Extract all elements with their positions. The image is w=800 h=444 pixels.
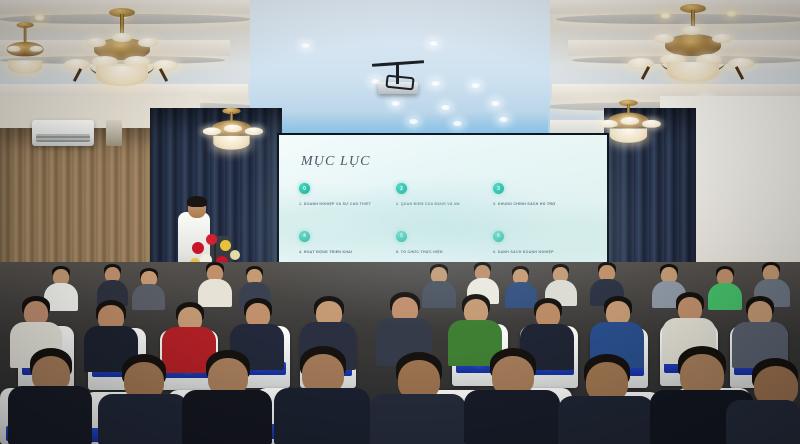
chandelier-left-near (200, 112, 263, 150)
chandelier-shade (620, 117, 639, 125)
downlight (440, 104, 451, 111)
toc-row: 4 4. HOẠT ĐỘNG TRIỂN KHAI 5 5. TỔ CHỨC T… (299, 231, 591, 255)
flower (220, 240, 231, 251)
toc-item-label: 4. HOẠT ĐỘNG TRIỂN KHAI (299, 250, 392, 255)
chandelier-bowl (213, 136, 249, 150)
chandelier-shade (86, 38, 106, 47)
downlight (490, 100, 501, 107)
flower (230, 250, 240, 260)
downlight (300, 42, 311, 49)
toc-item: 0 1. DOANH NGHIỆP VÀ SỰ CẦN THIẾT (299, 183, 396, 207)
downlight (428, 40, 439, 47)
air-conditioner (32, 120, 94, 146)
speaker-hair (187, 196, 207, 207)
toc-item-label: 3. KHUNG CHÍNH SÁCH HỖ TRỢ (493, 202, 586, 207)
toc-item-label: 1. DOANH NGHIỆP VÀ SỰ CẦN THIẾT (299, 202, 392, 207)
toc-bullet-icon: 3 (493, 183, 504, 194)
toc-item-label: 6. DANH SÁCH DOANH NGHIỆP (493, 250, 586, 255)
toc-bullet-icon: 0 (299, 183, 310, 194)
chandelier-shade (64, 59, 90, 70)
chandelier-bowl (667, 62, 719, 82)
downlight (430, 80, 441, 87)
conference-hall-photo: MỤC LỤC 0 1. DOANH NGHIỆP VÀ SỰ CẦN THIẾ… (0, 0, 800, 444)
chandelier-bowl (8, 60, 42, 73)
chandelier-shade (138, 38, 158, 47)
chandelier-shade (7, 46, 20, 52)
toc-item: 5 5. TỔ CHỨC THỰC HIỆN (396, 231, 493, 255)
toc-item: 2 2. QUAN ĐIỂM CỦA ĐẢNG VÀ NN (396, 183, 493, 207)
chandelier-shade (728, 58, 754, 69)
chandelier-shade (712, 34, 732, 43)
chandelier-shade (152, 60, 178, 71)
chandelier-bowl (96, 66, 148, 86)
flower (192, 242, 204, 254)
toc-bullet-icon: 4 (299, 231, 310, 242)
toc-bullet-icon: 5 (396, 231, 407, 242)
downlight (408, 118, 419, 125)
chandelier-rod (24, 26, 27, 43)
chandelier-shade (599, 120, 618, 128)
flower (206, 234, 217, 245)
downlight (452, 120, 463, 127)
chandelier-right (628, 10, 758, 100)
chandelier-shade (245, 127, 263, 135)
chandelier-shade (224, 125, 242, 133)
downlight (498, 116, 509, 123)
toc-bullet-icon: 2 (396, 183, 407, 194)
air-conditioner-vent (36, 134, 90, 142)
audience-area (0, 262, 800, 444)
chandelier-shade (654, 34, 674, 43)
slide-title: MỤC LỤC (301, 154, 371, 170)
toc-item-label: 2. QUAN ĐIỂM CỦA ĐẢNG VÀ NN (396, 202, 489, 207)
toc-item-label: 5. TỔ CHỨC THỰC HIỆN (396, 250, 489, 255)
toc-item: 4 4. HOẠT ĐỘNG TRIỂN KHAI (299, 231, 396, 255)
chandelier-stem (73, 68, 82, 82)
chandelier-shade (203, 127, 221, 135)
downlight (470, 82, 481, 89)
toc-bullet-icon: 6 (493, 231, 504, 242)
wall-speaker (106, 120, 122, 146)
chandelier-shade (30, 46, 43, 52)
chandelier-left (62, 14, 182, 100)
downlight (390, 100, 401, 107)
chandelier-shade (642, 120, 661, 128)
toc-row: 0 1. DOANH NGHIỆP VÀ SỰ CẦN THIẾT 2 2. Q… (299, 183, 591, 207)
chandelier-left-far (2, 26, 48, 63)
chandelier-bowl (610, 128, 647, 142)
projector-bracket (385, 75, 414, 91)
toc-item: 3 3. KHUNG CHÍNH SÁCH HỖ TRỢ (493, 183, 590, 207)
chandelier-shade (112, 33, 132, 42)
downlight (34, 14, 45, 21)
chandelier-shade (682, 26, 702, 35)
toc-item: 6 6. DANH SÁCH DOANH NGHIỆP (493, 231, 590, 255)
